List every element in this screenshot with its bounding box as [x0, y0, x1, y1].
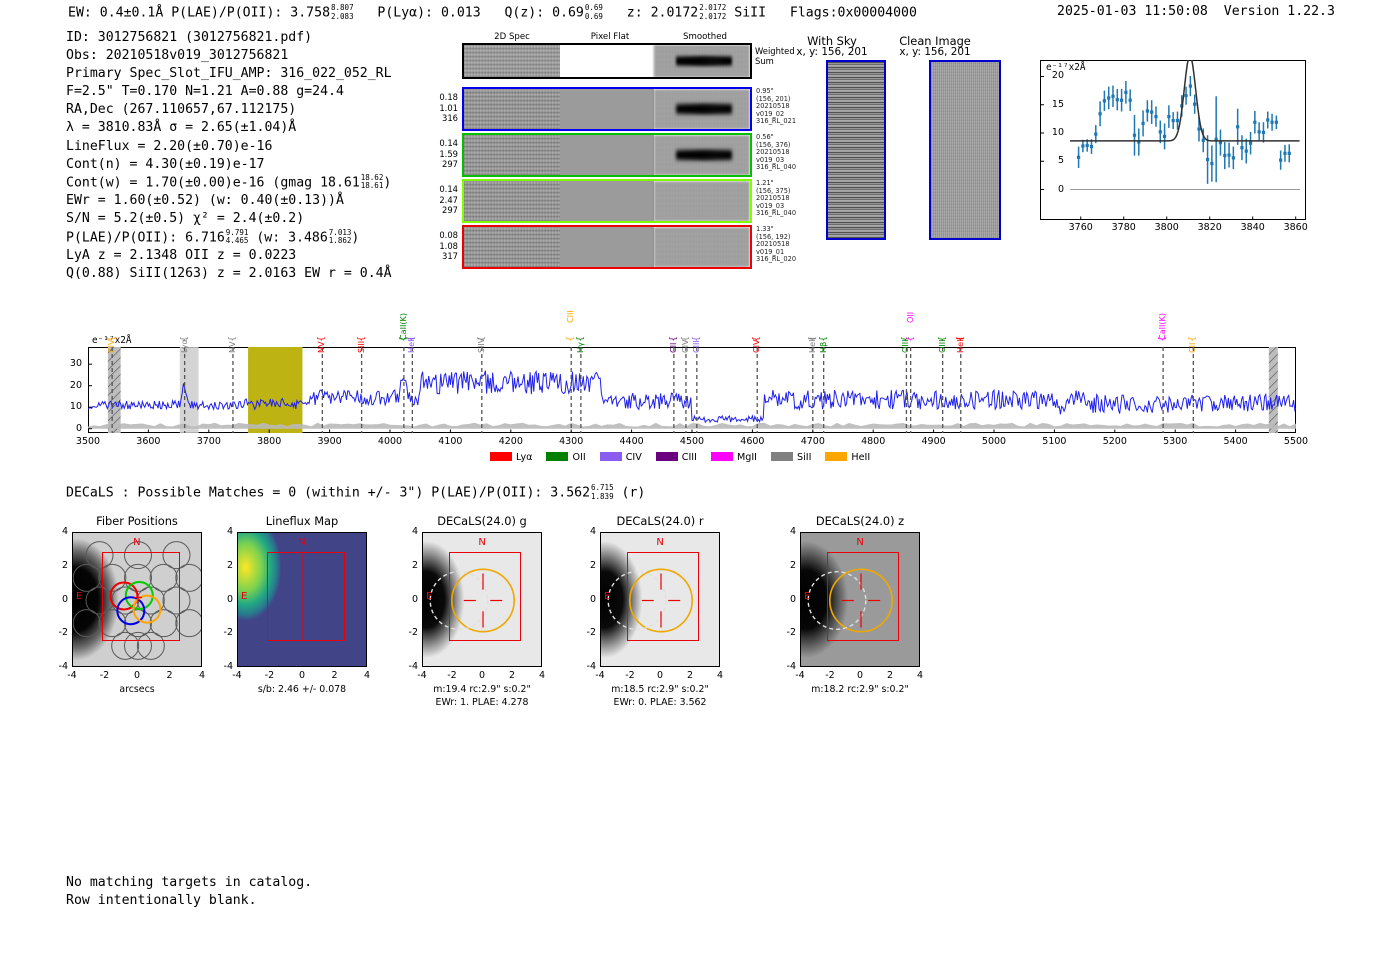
decals-header-post: (r)	[622, 486, 646, 501]
detection-info-block: ID: 3012756821 (3012756821.pdf) Obs: 202…	[66, 29, 392, 283]
compass-east-label: E	[426, 591, 432, 602]
info-redshift-line: LyA z = 2.1348 OII z = 0.0223	[66, 247, 392, 265]
spectrum-line-brace: {	[938, 336, 948, 342]
spectrum-line-brace: {	[669, 336, 679, 342]
decals-xtick: 4	[528, 670, 556, 681]
fiber-row-emission-blob	[676, 146, 732, 164]
bottom-note: No matching targets in catalog. Row inte…	[66, 874, 312, 910]
spectrum-line-label: Lyα	[180, 313, 188, 353]
legend-item: Lyα	[490, 452, 532, 463]
fiber-row-left-value: 0.18	[428, 92, 458, 103]
spectrum-xtick: 4700	[793, 436, 833, 447]
col-header-2dspec: 2D Spec	[472, 32, 552, 42]
spectrum-line-brace: {	[317, 336, 327, 342]
spectrum-xtick: 3900	[310, 436, 350, 447]
decals-ytick: 4	[776, 526, 796, 537]
legend-label: MgII	[737, 452, 757, 463]
legend-item: CIII	[656, 452, 697, 463]
header-ew-plae-text: EW: 0.4±0.1Å P(LAE)/P(OII): 3.758	[68, 6, 330, 21]
decals-ytick: -4	[576, 661, 596, 672]
info-primary-line: Primary Spec_Slot_IFU_AMP: 316_022_052_R…	[66, 65, 392, 83]
decals-ytick: 2	[213, 560, 233, 571]
decals-xtick: -2	[438, 670, 466, 681]
info-sn-chi2-line: S/N = 5.2(±0.5) χ² = 2.4(±0.2)	[66, 210, 392, 228]
header-timestamp-version: 2025-01-03 11:50:08 Version 1.22.3	[1057, 4, 1335, 19]
info-obs-line: Obs: 20210518v019_3012756821	[66, 47, 392, 65]
legend-swatch	[711, 452, 733, 461]
fiber-row-left-labels: 0.142.47297	[428, 184, 458, 216]
legend-label: Lyα	[516, 452, 532, 463]
bottom-note-line1: No matching targets in catalog.	[66, 874, 312, 892]
fiber-row-strip	[462, 225, 752, 269]
decals-panel-axes	[800, 532, 920, 667]
decals-ytick: -4	[398, 661, 418, 672]
fiber-row-smoothed-image	[654, 181, 750, 221]
compass-north-label: N	[656, 537, 663, 548]
decals-ytick: 0	[398, 594, 418, 605]
spectrum-line-brace: {	[752, 336, 762, 342]
spectrum-line-brace: {	[407, 336, 417, 342]
header-z-errors: 2.01722.0172	[699, 4, 726, 21]
decals-header-pre: DECaLS : Possible Matches = 0 (within +/…	[66, 486, 590, 501]
spectrum-line-label: Hβ	[819, 313, 827, 353]
decals-xtick: 4	[188, 670, 216, 681]
spectrum-line-label: SiIV	[477, 313, 485, 353]
info-lineflux-line: LineFlux = 2.20(±0.70)e-16	[66, 138, 392, 156]
legend-label: SiII	[797, 452, 811, 463]
spectrum-xtick: 4300	[551, 436, 591, 447]
header-plae-errors: 8.8072.083	[331, 4, 354, 21]
decals-red-box	[102, 552, 180, 641]
decals-ytick: -2	[213, 627, 233, 638]
header-summary-line: EW: 0.4±0.1Å P(LAE)/P(OII): 3.7588.8072.…	[68, 4, 917, 21]
decals-ytick: 2	[776, 560, 796, 571]
spectrum-canvas	[88, 347, 1296, 433]
info-gmag-lo: 18.61	[361, 182, 384, 191]
decals-panel-title: DECaLS(24.0) g	[407, 514, 557, 528]
decals-xtick: 0	[288, 670, 316, 681]
info-plae-errors-1: 9.7914.465	[226, 229, 249, 246]
spectrum-line-brace: {	[956, 336, 966, 342]
fit-plot-xtick: 3760	[1065, 222, 1097, 233]
compass-north-label: N	[298, 537, 305, 548]
spectrum-xtick: 3800	[249, 436, 289, 447]
decals-ytick: 2	[576, 560, 596, 571]
spectrum-ytick: 0	[60, 423, 82, 434]
compass-east-label: E	[804, 591, 810, 602]
legend-item: CIV	[600, 452, 642, 463]
info-contn-line: Cont(n) = 4.30(±0.19)e-17	[66, 156, 392, 174]
decals-xtick: 4	[906, 670, 934, 681]
info-id-line: ID: 3012756821 (3012756821.pdf)	[66, 29, 392, 47]
decals-plae-errors: 6.7151.839	[591, 484, 614, 501]
decals-ytick: 2	[48, 560, 68, 571]
fiber-row-right-value: 316_RL_021	[756, 118, 796, 126]
info-contw-pre: Cont(w) = 1.70(±0.00)e-16 (gmag 18.61	[66, 175, 360, 190]
fiber-row-left-value: 2.47	[428, 195, 458, 206]
fiber-row-strip	[462, 87, 752, 131]
decals-xlabel: arcsecs	[52, 684, 222, 695]
fiber-row-right-value: 316_RL_040	[756, 164, 796, 172]
decals-ytick: 0	[48, 594, 68, 605]
legend-swatch	[546, 452, 568, 461]
info-gmag-errors: 18.6218.61	[361, 174, 384, 191]
spectrum-ytick: 30	[60, 358, 82, 369]
fiber-row-strip	[462, 179, 752, 223]
header-z-text: z: 2.0172	[627, 6, 698, 21]
clean-image-image	[929, 60, 1001, 240]
fiber-row-right-value: 316_RL_020	[756, 256, 796, 264]
legend-label: HeII	[851, 452, 870, 463]
spectrum-line-label: HeII	[407, 313, 415, 353]
spectrum-line-label: CIII	[692, 313, 700, 353]
decals-xtick: 2	[876, 670, 904, 681]
fiber-row-pixelflat-image	[560, 227, 654, 267]
fiber-row-right-labels: 0.95"(156, 201)20210518v019_02316_RL_021	[756, 88, 796, 126]
fiber-row-right-labels: 1.21"(156, 375)20210518v019_03316_RL_040	[756, 180, 796, 218]
info-ewr-line: EWr = 1.60(±0.52) (w: 0.40(±0.13))Å	[66, 192, 392, 210]
spectrum-xtick: 5300	[1155, 436, 1195, 447]
legend-item: HeII	[825, 452, 870, 463]
decals-ytick: 0	[576, 594, 596, 605]
fit-plot-ytick: 5	[1044, 155, 1064, 166]
spectrum-line-brace: {	[566, 336, 576, 342]
fiber-row-smoothed-image	[654, 227, 750, 267]
fit-plot-ytick: 10	[1044, 127, 1064, 138]
fiber-row-pixelflat-image	[560, 135, 654, 175]
fit-plot-ytick: 15	[1044, 99, 1064, 110]
spectrum-line-brace: {	[107, 336, 117, 342]
emission-line-fit-plot: e⁻¹⁷x2Å 37603780380038203840386005101520	[1040, 60, 1306, 220]
compass-north-label: N	[856, 537, 863, 548]
decals-ytick: 0	[776, 594, 796, 605]
decals-ytick: 2	[398, 560, 418, 571]
fiber-row-left-value: 0.14	[428, 138, 458, 149]
weighted-sum-row	[462, 43, 752, 79]
legend-item: SiII	[771, 452, 811, 463]
legend-swatch	[771, 452, 793, 461]
spectrum-line-label: NV	[228, 313, 236, 353]
spectrum-line-brace: {	[477, 336, 487, 342]
legend-item: OII	[546, 452, 585, 463]
info-plae-lo3: 1.862	[329, 237, 352, 246]
spectrum-ytick: 20	[60, 380, 82, 391]
decals-ytick: -2	[776, 627, 796, 638]
decals-caption-1: m:18.5 rc:2.9" s:0.2"	[575, 684, 745, 695]
spectrum-xtick: 5400	[1216, 436, 1256, 447]
spectrum-line-label: HeII	[808, 313, 816, 353]
with-sky-image	[826, 60, 886, 240]
fiber-row-right-labels: 1.33"(156, 192)20210518v019_01316_RL_020	[756, 226, 796, 264]
decals-panel-axes	[600, 532, 720, 667]
decals-xtick: 4	[706, 670, 734, 681]
decals-ytick: -4	[48, 661, 68, 672]
spectrum-line-label: CaII(K)	[1158, 300, 1166, 340]
spectrum-line-label: HeII	[956, 313, 964, 353]
decals-xtick: 4	[353, 670, 381, 681]
decals-ytick: -2	[48, 627, 68, 638]
decals-panel-axes	[72, 532, 202, 667]
spectrum-line-label: CII	[1188, 313, 1196, 353]
spectrum-xtick: 3700	[189, 436, 229, 447]
decals-caption-2: EWr: 0. PLAE: 3.562	[575, 697, 745, 708]
spectrum-line-brace: {	[1188, 336, 1198, 342]
header-version: Version 1.22.3	[1224, 4, 1335, 19]
header-datetime: 2025-01-03 11:50:08	[1057, 4, 1208, 19]
fiber-row-left-value: 297	[428, 159, 458, 170]
fit-plot-xtick: 3840	[1237, 222, 1269, 233]
clean-image-subtitle: x, y: 156, 201	[855, 46, 1015, 58]
legend-item: MgII	[711, 452, 757, 463]
spectrum-line-label: CIV	[681, 313, 689, 353]
spectrum-ytick: 10	[60, 401, 82, 412]
decals-xtick: -2	[256, 670, 284, 681]
decals-panel-title: DECaLS(24.0) r	[585, 514, 735, 528]
fiber-row-2dspec-image	[464, 181, 560, 221]
decals-plae-lo: 1.839	[591, 493, 614, 502]
fiber-row-left-value: 0.14	[428, 184, 458, 195]
decals-xtick: -2	[616, 670, 644, 681]
decals-xtick: -2	[816, 670, 844, 681]
spectrum-xtick: 5000	[974, 436, 1014, 447]
fiber-row-2dspec-image	[464, 227, 560, 267]
fiber-row-left-value: 297	[428, 205, 458, 216]
spectrum-xtick: 4600	[732, 436, 772, 447]
spectrum-line-label: OIII	[938, 313, 946, 353]
fit-plot-xtick: 3780	[1108, 222, 1140, 233]
fiber-row-strip	[462, 133, 752, 177]
col-header-smoothed: Smoothed	[665, 32, 745, 42]
fiber-row-left-value: 1.08	[428, 241, 458, 252]
fiber-row-right-labels: 0.56"(156, 376)20210518v019_03316_RL_040	[756, 134, 796, 172]
decals-ytick: 0	[213, 594, 233, 605]
spectrum-xtick: 4200	[491, 436, 531, 447]
decals-panel-title: DECaLS(24.0) z	[785, 514, 935, 528]
spectrum-xtick: 5100	[1034, 436, 1074, 447]
full-spectrum-plot: e⁻¹⁷x2Å	[88, 347, 1296, 433]
fiber-row-right-value: 316_RL_040	[756, 210, 796, 218]
legend-swatch	[656, 452, 678, 461]
decals-ytick: -4	[213, 661, 233, 672]
spectrum-legend: LyαOIICIVCIIIMgIISiIIHeII	[490, 452, 884, 463]
fit-plot-xtick: 3860	[1280, 222, 1312, 233]
legend-label: CIII	[682, 452, 697, 463]
fiber-row-2dspec-image	[464, 89, 560, 129]
spectrum-line-label: SiII	[357, 313, 365, 353]
spectrum-xtick: 4800	[853, 436, 893, 447]
info-radec-line: RA,Dec (267.110657,67.112175)	[66, 101, 392, 119]
spectrum-xtick: 4000	[370, 436, 410, 447]
decals-panel-title: Fiber Positions	[62, 514, 212, 528]
spectrum-line-brace: {	[692, 336, 702, 342]
spectrum-xtick: 4400	[612, 436, 652, 447]
fiber-row-left-value: 0.08	[428, 230, 458, 241]
header-z-lo: 2.0172	[699, 13, 726, 22]
spectrum-line-label: NV	[317, 313, 325, 353]
spectrum-xtick: 3600	[128, 436, 168, 447]
decals-panel-title: Lineflux Map	[227, 514, 377, 528]
spectrum-line-brace: {	[819, 336, 829, 342]
spectrum-line-brace: {	[180, 336, 190, 342]
legend-label: OII	[572, 452, 585, 463]
spectrum-line-label: CaII(K)	[399, 300, 407, 340]
compass-east-label: E	[241, 591, 247, 602]
fiber-row-pixelflat-image	[560, 181, 654, 221]
spectrum-line-brace: {	[681, 336, 691, 342]
spectrum-line-label: CIV	[752, 313, 760, 353]
decals-panel-axes	[422, 532, 542, 667]
spectrum-line-label: CII	[669, 313, 677, 353]
decals-xtick: 0	[846, 670, 874, 681]
info-plae-mid: (w: 3.486	[256, 230, 327, 245]
decals-caption-1: s/b: 2.46 +/- 0.078	[217, 684, 387, 695]
compass-east-label: E	[604, 591, 610, 602]
decals-xtick: 0	[468, 670, 496, 681]
decals-caption-1: m:19.4 rc:2.9" s:0.2"	[397, 684, 567, 695]
decals-ytick: 4	[48, 526, 68, 537]
info-q-line: Q(0.88) SiII(1263) z = 2.0163 EW r = 0.4…	[66, 265, 392, 283]
spectrum-line-brace: {	[576, 336, 586, 342]
fit-plot-ytick: 20	[1044, 70, 1064, 81]
decals-xtick: 2	[156, 670, 184, 681]
decals-xtick: 2	[321, 670, 349, 681]
decals-panel-axes	[237, 532, 367, 667]
decals-xtick: 2	[498, 670, 526, 681]
col-header-pixelflat: Pixel Flat	[570, 32, 650, 42]
info-plae-errors-2: 7.0131.862	[329, 229, 352, 246]
compass-north-label: N	[478, 537, 485, 548]
decals-ytick: -4	[776, 661, 796, 672]
spectrum-line-label: Hγ	[576, 313, 584, 353]
fiber-row-2dspec-image	[464, 135, 560, 175]
header-qz-text: Q(z): 0.69	[504, 6, 583, 21]
spectrum-line-label: CIV	[107, 313, 115, 353]
legend-swatch	[825, 452, 847, 461]
info-params-line: F=2.5" T=0.170 N=1.21 A=0.88 g=24.4	[66, 83, 392, 101]
header-plya-text: P(Lyα): 0.013	[377, 6, 480, 21]
decals-xtick: -2	[91, 670, 119, 681]
header-flags-text: Flags:0x00004000	[790, 6, 917, 21]
decals-xtick: 0	[646, 670, 674, 681]
info-lambda-line: λ = 3810.83Å σ = 2.65(±1.04)Å	[66, 119, 392, 137]
spectrum-xtick: 5500	[1276, 436, 1316, 447]
fiber-row-emission-blob	[676, 100, 732, 118]
spectrum-line-brace: {	[808, 336, 818, 342]
fit-plot-xtick: 3800	[1151, 222, 1183, 233]
legend-swatch	[600, 452, 622, 461]
decals-ytick: -2	[398, 627, 418, 638]
legend-swatch	[490, 452, 512, 461]
decals-caption-1: m:18.2 rc:2.9" s:0.2"	[775, 684, 945, 695]
fiber-row-pixelflat-image	[560, 89, 654, 129]
fiber-row-left-value: 1.59	[428, 149, 458, 160]
info-contw-line: Cont(w) = 1.70(±0.00)e-16 (gmag 18.6118.…	[66, 174, 392, 193]
info-plae-pre: P(LAE)/P(OII): 6.716	[66, 230, 225, 245]
spectrum-line-brace: {	[228, 336, 238, 342]
fiber-row-left-labels: 0.141.59297	[428, 138, 458, 170]
fiber-row-left-value: 1.01	[428, 103, 458, 114]
decals-ytick: 4	[576, 526, 596, 537]
spectrum-line-label: CIII	[566, 283, 574, 323]
fiber-row-left-labels: 0.181.01316	[428, 92, 458, 124]
fit-plot-ytick: 0	[1044, 184, 1064, 195]
spectrum-line-label: OII	[906, 283, 914, 323]
legend-label: CIV	[626, 452, 642, 463]
spectrum-xtick: 4500	[672, 436, 712, 447]
header-plae-lo: 2.083	[331, 13, 354, 22]
decals-xtick: 0	[123, 670, 151, 681]
decals-caption-2: EWr: 1. PLAE: 4.278	[397, 697, 567, 708]
spectrum-line-brace: {	[906, 336, 916, 342]
decals-xtick: 2	[676, 670, 704, 681]
fit-plot-canvas	[1040, 60, 1306, 220]
info-contw-post: )	[383, 175, 391, 190]
fiber-row-left-value: 317	[428, 251, 458, 262]
header-qz-errors: 0.690.69	[585, 4, 603, 21]
spectrum-line-brace: {	[1158, 336, 1168, 342]
bottom-note-line2: Row intentionally blank.	[66, 892, 312, 910]
info-plae-line: P(LAE)/P(OII): 6.7169.7914.465 (w: 3.486…	[66, 229, 392, 248]
decals-ytick: 4	[213, 526, 233, 537]
decals-ytick: 4	[398, 526, 418, 537]
fiber-row-left-value: 316	[428, 113, 458, 124]
two-d-spectra-panel: 2D Spec Pixel Flat Smoothed Weighted Sum…	[430, 32, 760, 247]
header-qz-lo: 0.69	[585, 13, 603, 22]
header-ion-label: SiII	[734, 6, 766, 21]
spectrum-xtick: 4900	[914, 436, 954, 447]
fit-plot-xtick: 3820	[1194, 222, 1226, 233]
spectrum-xtick: 5200	[1095, 436, 1135, 447]
info-plae-post: )	[351, 230, 359, 245]
spectrum-line-brace: {	[357, 336, 367, 342]
decals-header: DECaLS : Possible Matches = 0 (within +/…	[66, 484, 645, 501]
decals-ytick: -2	[576, 627, 596, 638]
compass-east-label: E	[76, 591, 82, 602]
info-plae-lo2: 4.465	[226, 237, 249, 246]
fiber-row-left-labels: 0.081.08317	[428, 230, 458, 262]
spectrum-xtick: 3500	[68, 436, 108, 447]
compass-north-label: N	[133, 537, 140, 548]
spectrum-xtick: 4100	[430, 436, 470, 447]
